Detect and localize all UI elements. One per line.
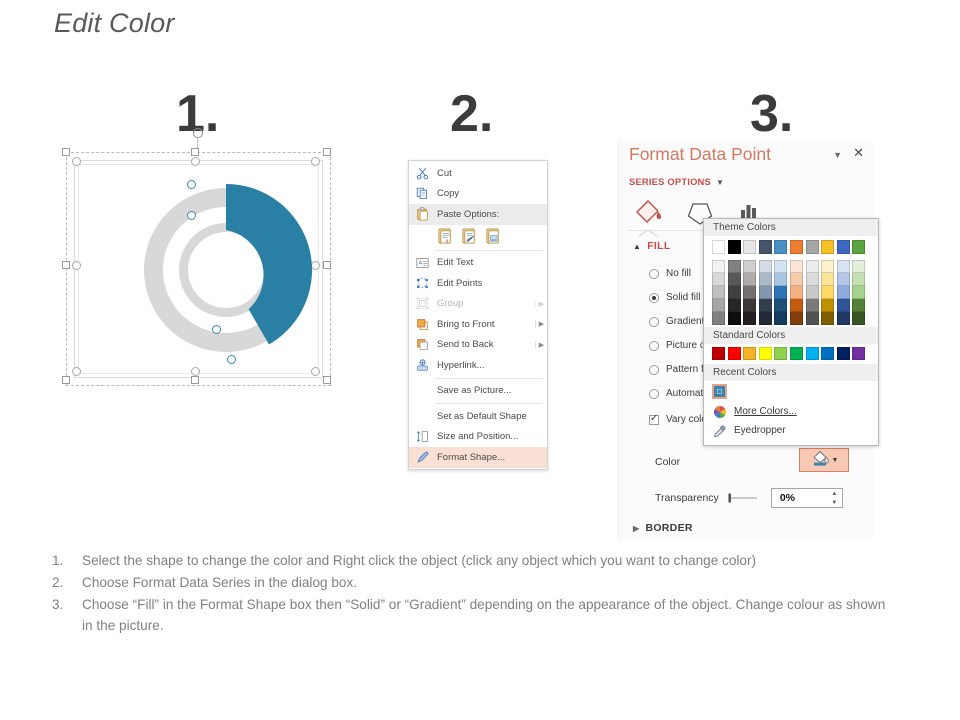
fill-bucket-icon: [810, 449, 830, 472]
theme-variant-swatch-3-4[interactable]: [759, 312, 772, 325]
theme-variant-swatch-9-3[interactable]: [852, 299, 865, 312]
paste-options-row: a: [409, 225, 547, 248]
menu-item-edit-text[interactable]: A Edit Text: [409, 253, 547, 274]
series-bar-icon: [741, 205, 756, 218]
format-shape-icon: [413, 449, 432, 465]
instruction-item-3: 3. Choose “Fill” in the Format Shape box…: [52, 594, 892, 636]
triangle-collapsed-icon: ▶: [633, 524, 639, 533]
triangle-expanded-icon: ▲: [633, 242, 641, 251]
transparency-label: Transparency: [655, 492, 719, 504]
theme-variant-swatch-1-1[interactable]: [728, 273, 741, 286]
resize-handle-bottom-left[interactable]: [62, 376, 70, 384]
color-wheel-icon: [712, 405, 728, 419]
standard-color-swatch-6[interactable]: [806, 347, 819, 360]
menu-item-label: Paste Options:: [437, 209, 547, 220]
theme-variant-column-4: [774, 260, 787, 325]
recent-colors-label: Recent Colors: [704, 364, 878, 381]
radio-indicator: [649, 317, 659, 327]
menu-item-format-shape[interactable]: Format Shape...: [409, 447, 547, 468]
color-label: Color: [655, 456, 680, 468]
standard-color-swatch-2[interactable]: [743, 347, 756, 360]
theme-variant-swatch-7-3[interactable]: [821, 299, 834, 312]
theme-colors-label: Theme Colors: [704, 219, 878, 236]
theme-colors-base-row: [704, 236, 878, 257]
theme-color-swatch-9[interactable]: [852, 240, 865, 254]
instruction-number: 2.: [52, 572, 82, 593]
radio-indicator: [649, 341, 659, 351]
menu-item-label: Set as Default Shape: [437, 411, 547, 422]
theme-variant-swatch-6-2[interactable]: [806, 286, 819, 299]
donut-chart[interactable]: [126, 170, 326, 370]
menu-item-send-to-back[interactable]: Send to Back ▶: [409, 335, 547, 356]
transparency-slider[interactable]: [727, 493, 761, 503]
theme-variant-swatch-9-2[interactable]: [852, 286, 865, 299]
radio-indicator: [649, 389, 659, 399]
page-title: Edit Color: [54, 8, 175, 39]
instruction-item-1: 1. Select the shape to change the color …: [52, 550, 892, 571]
border-section-header[interactable]: ▶BORDER: [633, 522, 693, 534]
chevron-down-icon[interactable]: ▼: [833, 150, 842, 160]
step-number-2: 2.: [450, 88, 493, 140]
theme-variant-swatch-7-4[interactable]: [821, 312, 834, 325]
standard-color-swatch-5[interactable]: [790, 347, 803, 360]
group-icon: [413, 296, 432, 312]
theme-variant-swatch-8-1[interactable]: [837, 273, 850, 286]
svg-text:A: A: [418, 260, 422, 266]
resize-handle-bottom-center[interactable]: [191, 376, 199, 384]
theme-variant-swatch-2-4[interactable]: [743, 312, 756, 325]
theme-variant-swatch-2-3[interactable]: [743, 299, 756, 312]
theme-variant-column-6: [806, 260, 819, 325]
paste-destination-theme-icon[interactable]: [461, 227, 478, 244]
radio-indicator: [649, 365, 659, 375]
menu-item-label: Copy: [437, 188, 547, 199]
datapoint-handle-top-inner[interactable]: [187, 211, 196, 220]
theme-variant-swatch-1-2[interactable]: [728, 286, 741, 299]
rotation-handle-icon[interactable]: [191, 126, 205, 140]
theme-variant-column-8: [837, 260, 850, 325]
standard-color-swatch-1[interactable]: [728, 347, 741, 360]
svg-text:a: a: [446, 238, 449, 243]
fill-section-header[interactable]: ▲FILL: [633, 240, 671, 252]
recent-color-swatch[interactable]: [712, 384, 727, 399]
theme-variant-swatch-9-4[interactable]: [852, 312, 865, 325]
submenu-arrow-icon: ▶: [535, 300, 547, 308]
radio-automatic[interactable]: Automatic: [649, 388, 710, 399]
more-colors-item[interactable]: More Colors...: [704, 402, 878, 421]
transparency-value: 0%: [780, 492, 795, 504]
close-icon[interactable]: ✕: [853, 146, 864, 159]
theme-variant-swatch-4-4[interactable]: [774, 312, 787, 325]
theme-variant-swatch-2-0[interactable]: [743, 260, 756, 273]
spinner-up-icon[interactable]: ▲: [831, 491, 837, 497]
theme-variant-swatch-5-3[interactable]: [790, 299, 803, 312]
theme-variant-swatch-4-0[interactable]: [774, 260, 787, 273]
menu-item-label: Send to Back: [437, 339, 533, 350]
theme-color-swatch-4[interactable]: [774, 240, 787, 254]
chevron-down-icon: ▼: [832, 457, 839, 464]
standard-color-swatch-3[interactable]: [759, 347, 772, 360]
submenu-arrow-icon: ▶: [535, 320, 547, 328]
recent-colors-row: [704, 381, 878, 402]
instruction-number: 1.: [52, 550, 82, 571]
theme-color-swatch-3[interactable]: [759, 240, 772, 254]
menu-separator: [435, 250, 543, 251]
theme-variant-swatch-7-0[interactable]: [821, 260, 834, 273]
instruction-text: Choose “Fill” in the Format Shape box th…: [82, 594, 892, 636]
paste-icon: [413, 206, 432, 222]
theme-variant-swatch-5-1[interactable]: [790, 273, 803, 286]
menu-item-label: Edit Points: [437, 278, 547, 289]
paste-picture-icon[interactable]: [485, 227, 502, 244]
menu-item-size-and-position[interactable]: Size and Position...: [409, 427, 547, 448]
theme-variant-swatch-0-2[interactable]: [712, 286, 725, 299]
datapoint-handle-bottom-outer[interactable]: [227, 355, 236, 364]
theme-variant-swatch-5-2[interactable]: [790, 286, 803, 299]
send-to-back-icon: [413, 337, 432, 353]
transparency-row: Transparency 0% ▲ ▼: [655, 488, 843, 508]
theme-variant-column-9: [852, 260, 865, 325]
resize-handle-top-right[interactable]: [323, 148, 331, 156]
edit-points-icon: [413, 275, 432, 291]
theme-variant-swatch-2-1[interactable]: [743, 273, 756, 286]
transparency-spinner[interactable]: ▲ ▼: [830, 491, 839, 506]
theme-variant-swatch-8-0[interactable]: [837, 260, 850, 273]
option-label: Solid fill: [666, 292, 700, 303]
spinner-down-icon[interactable]: ▼: [831, 500, 837, 506]
menu-item-group[interactable]: Group ▶: [409, 294, 547, 315]
theme-variant-swatch-0-4[interactable]: [712, 312, 725, 325]
menu-item-label: Group: [437, 298, 533, 309]
instruction-number: 3.: [52, 594, 82, 636]
resize-handle-top-center[interactable]: [191, 148, 199, 156]
menu-item-edit-points[interactable]: Edit Points: [409, 273, 547, 294]
menu-item-hyperlink[interactable]: Hyperlink...: [409, 355, 547, 376]
series-options-label: SERIES OPTIONS: [629, 176, 711, 187]
theme-variant-swatch-7-2[interactable]: [821, 286, 834, 299]
paste-keep-source-formatting-icon[interactable]: a: [437, 227, 454, 244]
standard-color-swatch-4[interactable]: [774, 347, 787, 360]
menu-item-label: Edit Text: [437, 257, 547, 268]
theme-variant-swatch-1-0[interactable]: [728, 260, 741, 273]
theme-variant-swatch-3-1[interactable]: [759, 273, 772, 286]
radio-indicator: [649, 293, 659, 303]
chevron-down-icon: ▼: [716, 178, 724, 187]
shape-selection-panel: [60, 148, 337, 390]
theme-variant-swatch-5-0[interactable]: [790, 260, 803, 273]
frame-handle-top-right[interactable]: [311, 157, 320, 166]
fill-line-icon: [637, 201, 661, 222]
theme-variant-column-2: [743, 260, 756, 325]
theme-variant-swatch-8-2[interactable]: [837, 286, 850, 299]
theme-variant-column-0: [712, 260, 725, 325]
checkbox-indicator: [649, 415, 659, 425]
transparency-input[interactable]: 0% ▲ ▼: [771, 488, 843, 508]
theme-variant-swatch-5-4[interactable]: [790, 312, 803, 325]
theme-colors-variant-grid: [704, 257, 878, 327]
theme-variant-swatch-8-3[interactable]: [837, 299, 850, 312]
standard-color-swatch-7[interactable]: [821, 347, 834, 360]
no-icon: [413, 383, 432, 399]
theme-color-swatch-8[interactable]: [837, 240, 850, 254]
menu-item-set-as-default-shape[interactable]: Set as Default Shape: [409, 406, 547, 427]
datapoint-handle-top-outer[interactable]: [187, 180, 196, 189]
theme-variant-swatch-1-4[interactable]: [728, 312, 741, 325]
theme-variant-swatch-2-2[interactable]: [743, 286, 756, 299]
radio-solid-fill[interactable]: Solid fill: [649, 292, 700, 303]
theme-variant-swatch-7-1[interactable]: [821, 273, 834, 286]
hyperlink-icon: [413, 357, 432, 373]
instruction-item-2: 2. Choose Format Data Series in the dial…: [52, 572, 892, 593]
resize-handle-top-left[interactable]: [62, 148, 70, 156]
bring-to-front-icon: [413, 316, 432, 332]
theme-variant-swatch-0-0[interactable]: [712, 260, 725, 273]
menu-item-paste-options: Paste Options:: [409, 204, 547, 225]
border-section-label: BORDER: [645, 522, 692, 534]
theme-color-swatch-5[interactable]: [790, 240, 803, 254]
pane-title: Format Data Point: [629, 144, 771, 165]
radio-pattern-fill[interactable]: Pattern fill: [649, 364, 710, 375]
no-icon: [413, 408, 432, 424]
frame-handle-bottom-left[interactable]: [72, 367, 81, 376]
theme-variant-swatch-0-3[interactable]: [712, 299, 725, 312]
theme-variant-column-5: [790, 260, 803, 325]
copy-icon: [413, 186, 432, 202]
menu-item-bring-to-front[interactable]: Bring to Front ▶: [409, 314, 547, 335]
theme-variant-column-1: [728, 260, 741, 325]
theme-variant-swatch-6-0[interactable]: [806, 260, 819, 273]
context-menu: Cut Copy Paste Options:: [408, 160, 548, 470]
more-colors-label: More Colors...: [734, 406, 797, 417]
menu-item-label: Cut: [437, 168, 547, 179]
theme-variant-column-7: [821, 260, 834, 325]
menu-item-save-as-picture[interactable]: Save as Picture...: [409, 381, 547, 402]
eyedropper-icon: [712, 424, 728, 438]
instructions-list: 1. Select the shape to change the color …: [52, 550, 892, 637]
theme-variant-column-3: [759, 260, 772, 325]
option-label: No fill: [666, 268, 691, 279]
theme-variant-swatch-8-4[interactable]: [837, 312, 850, 325]
eyedropper-label: Eyedropper: [734, 425, 786, 436]
eyedropper-item[interactable]: Eyedropper: [704, 421, 878, 440]
menu-separator: [435, 403, 543, 404]
instruction-text: Select the shape to change the color and…: [82, 550, 892, 571]
size-position-icon: [413, 429, 432, 445]
theme-variant-swatch-3-3[interactable]: [759, 299, 772, 312]
standard-color-swatch-8[interactable]: [837, 347, 850, 360]
radio-no-fill[interactable]: No fill: [649, 268, 691, 279]
theme-variant-swatch-3-0[interactable]: [759, 260, 772, 273]
theme-variant-swatch-4-3[interactable]: [774, 299, 787, 312]
frame-handle-middle-left[interactable]: [72, 261, 81, 270]
theme-variant-swatch-0-1[interactable]: [712, 273, 725, 286]
theme-variant-swatch-9-0[interactable]: [852, 260, 865, 273]
theme-variant-swatch-6-3[interactable]: [806, 299, 819, 312]
theme-variant-swatch-6-1[interactable]: [806, 273, 819, 286]
menu-item-label: Size and Position...: [437, 431, 547, 442]
theme-variant-swatch-1-3[interactable]: [728, 299, 741, 312]
menu-item-label: Save as Picture...: [437, 385, 547, 396]
datapoint-handle-bottom-inner[interactable]: [212, 325, 221, 334]
menu-item-cut[interactable]: Cut: [409, 163, 547, 184]
theme-variant-swatch-3-2[interactable]: [759, 286, 772, 299]
menu-item-label: Format Shape...: [437, 452, 547, 463]
submenu-arrow-icon: ▶: [535, 341, 547, 349]
menu-item-label: Bring to Front: [437, 319, 533, 330]
standard-color-swatch-0[interactable]: [712, 347, 725, 360]
cut-icon: [413, 165, 432, 181]
standard-color-swatch-9[interactable]: [852, 347, 865, 360]
theme-variant-swatch-4-1[interactable]: [774, 273, 787, 286]
color-picker-dropdown: Theme Colors Standard Colors Recent Colo…: [703, 218, 879, 446]
color-picker-button[interactable]: ▼: [799, 448, 849, 472]
standard-colors-row: [704, 344, 878, 364]
menu-item-label: Hyperlink...: [437, 360, 547, 371]
resize-handle-middle-left[interactable]: [62, 261, 70, 269]
resize-handle-bottom-right[interactable]: [323, 376, 331, 384]
fill-section-label: FILL: [647, 240, 670, 252]
edit-text-icon: A: [413, 255, 432, 271]
instruction-text: Choose Format Data Series in the dialog …: [82, 572, 892, 593]
menu-separator: [435, 378, 543, 379]
theme-variant-swatch-4-2[interactable]: [774, 286, 787, 299]
radio-indicator: [649, 269, 659, 279]
standard-colors-label: Standard Colors: [704, 327, 878, 344]
theme-color-swatch-7[interactable]: [821, 240, 834, 254]
series-options-dropdown[interactable]: SERIES OPTIONS▼: [629, 176, 724, 187]
frame-handle-top-left[interactable]: [72, 157, 81, 166]
theme-color-swatch-1[interactable]: [728, 240, 741, 254]
frame-handle-top-center[interactable]: [191, 157, 200, 166]
step-number-3: 3.: [750, 88, 793, 140]
theme-color-swatch-0[interactable]: [712, 240, 725, 254]
theme-variant-swatch-6-4[interactable]: [806, 312, 819, 325]
theme-color-swatch-2[interactable]: [743, 240, 756, 254]
theme-color-swatch-6[interactable]: [806, 240, 819, 254]
theme-variant-swatch-9-1[interactable]: [852, 273, 865, 286]
menu-item-copy[interactable]: Copy: [409, 184, 547, 205]
